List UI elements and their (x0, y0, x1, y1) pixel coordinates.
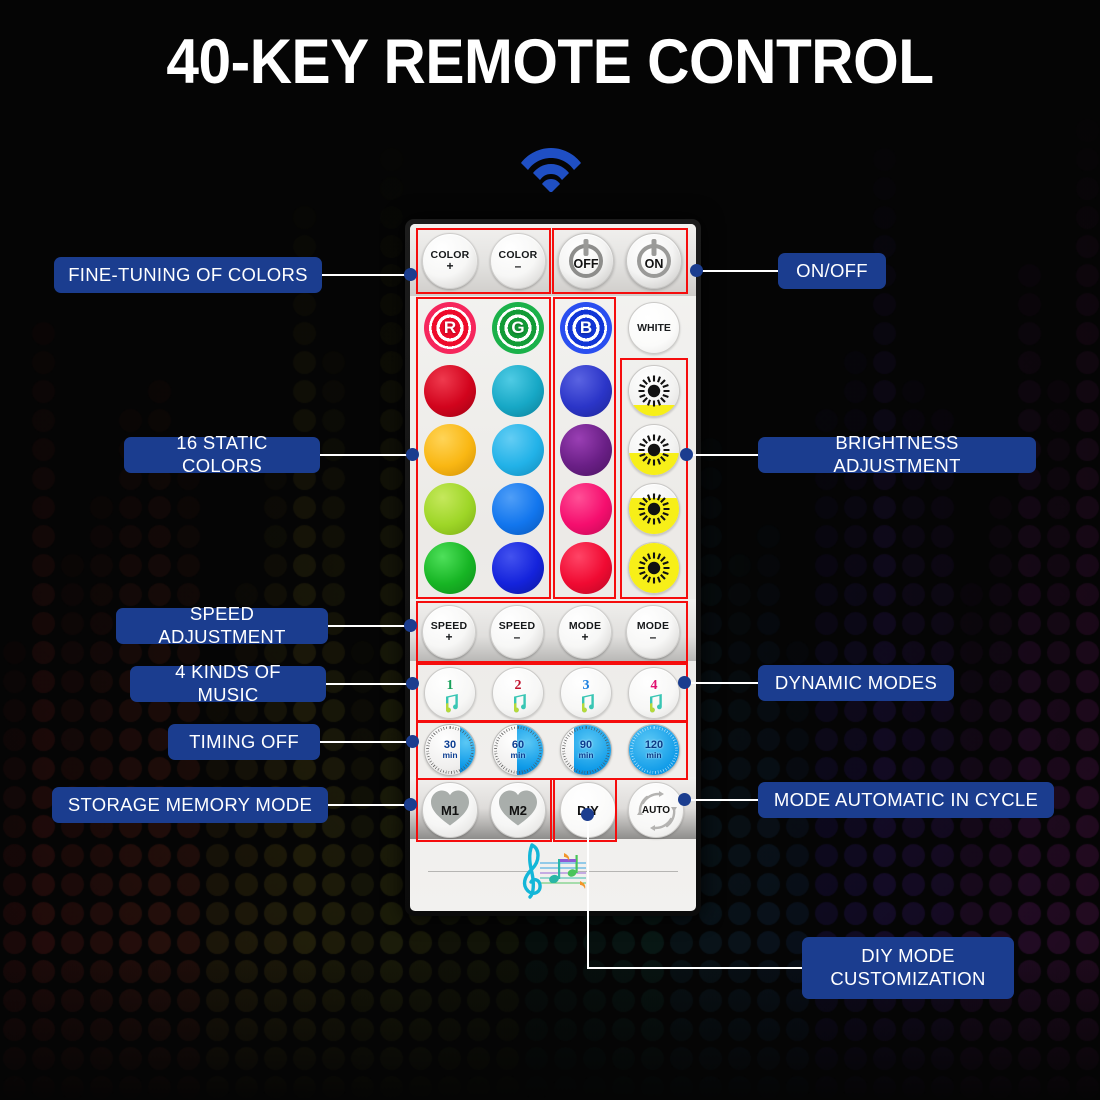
power-stem-icon (584, 239, 589, 256)
anchor-dynamic-modes (678, 676, 691, 689)
anchor-timing-off (406, 735, 419, 748)
callout-brightness[interactable]: BRIGHTNESS ADJUSTMENT (758, 437, 1036, 473)
leader-on-off (696, 270, 780, 272)
music-3-key[interactable]: 3 (560, 667, 612, 719)
auto-key-label: AUTO (642, 805, 670, 816)
timer-30min-label: 30 min (442, 740, 457, 759)
green-key[interactable]: G (492, 302, 544, 354)
timer-30min-key[interactable]: 30 min (424, 724, 476, 776)
speed-minus-key[interactable]: SPEED – (490, 605, 544, 659)
white-key-label: WHITE (637, 322, 671, 334)
power-on-key[interactable]: ON (626, 233, 682, 289)
anchor-auto-cycle (678, 793, 691, 806)
color-swatch-key[interactable] (492, 483, 544, 535)
memory-m1-label: M1 (441, 803, 459, 818)
speed-plus-key[interactable]: SPEED + (422, 605, 476, 659)
brightness-icon (637, 492, 671, 526)
color-plus-key[interactable]: COLOR + (422, 233, 478, 289)
timer-120min-key[interactable]: 120 min (628, 724, 680, 776)
leader-dynamic-modes (690, 682, 762, 684)
anchor-brightness (680, 448, 693, 461)
color-swatch-key[interactable] (424, 424, 476, 476)
brightness-key[interactable] (628, 365, 680, 417)
music-note-icon (507, 693, 529, 720)
color-swatch-key[interactable] (424, 365, 476, 417)
brightness-icon (637, 551, 671, 585)
leader-diy-horizontal (587, 967, 805, 969)
anchor-diy-mode (581, 808, 594, 821)
power-off-key[interactable]: OFF (558, 233, 614, 289)
callout-timing-off[interactable]: TIMING OFF (168, 724, 320, 760)
music-note-icon (439, 693, 461, 720)
mode-plus-sign: + (581, 631, 588, 643)
leader-static-colors (320, 454, 412, 456)
timer-120min-label: 120 min (645, 740, 663, 759)
page-title: 40-KEY REMOTE CONTROL (39, 26, 1062, 98)
music-1-number: 1 (447, 678, 454, 694)
wifi-icon (517, 140, 585, 192)
color-swatch-key[interactable] (492, 542, 544, 594)
power-off-label: OFF (574, 257, 599, 271)
music-note-icon (643, 693, 665, 720)
leader-brightness (690, 454, 762, 456)
music-2-number: 2 (515, 678, 522, 694)
brightness-icon (637, 374, 671, 408)
memory-m2-label: M2 (509, 803, 527, 818)
green-key-label: G (502, 312, 533, 343)
mode-minus-sign: – (650, 631, 657, 643)
callout-fine-tuning[interactable]: FINE-TUNING OF COLORS (54, 257, 322, 293)
blue-key[interactable]: B (560, 302, 612, 354)
color-swatch-key[interactable] (560, 542, 612, 594)
blue-key-label: B (570, 312, 601, 343)
color-plus-sign: + (446, 260, 453, 272)
timer-unit: min (510, 751, 525, 759)
timer-unit: min (645, 751, 663, 759)
brightness-key[interactable] (628, 424, 680, 476)
music-3-number: 3 (583, 678, 590, 694)
timer-unit: min (578, 751, 593, 759)
mode-minus-key[interactable]: MODE – (626, 605, 680, 659)
speed-plus-sign: + (445, 631, 452, 643)
anchor-speed-adjustment (404, 619, 417, 632)
red-key[interactable]: R (424, 302, 476, 354)
remote-footer (410, 827, 696, 911)
music-staff-logo (510, 835, 596, 910)
brightness-key[interactable] (628, 542, 680, 594)
anchor-on-off (690, 264, 703, 277)
timer-90min-key[interactable]: 90 min (560, 724, 612, 776)
music-2-key[interactable]: 2 (492, 667, 544, 719)
white-key[interactable]: WHITE (628, 302, 680, 354)
callout-on-off[interactable]: ON/OFF (778, 253, 886, 289)
color-swatch-key[interactable] (560, 365, 612, 417)
power-stem-icon (652, 239, 657, 256)
callout-music-kinds[interactable]: 4 KINDS OF MUSIC (130, 666, 326, 702)
color-swatch-key[interactable] (424, 483, 476, 535)
callout-dynamic-modes[interactable]: DYNAMIC MODES (758, 665, 954, 701)
anchor-fine-tuning (404, 268, 417, 281)
timer-60min-label: 60 min (510, 740, 525, 759)
color-swatch-key[interactable] (560, 424, 612, 476)
infographic-canvas: 40-KEY REMOTE CONTROL COLOR + COLOR – (0, 0, 1100, 1100)
music-4-key[interactable]: 4 (628, 667, 680, 719)
timer-90min-label: 90 min (578, 740, 593, 759)
timer-unit: min (442, 751, 457, 759)
leader-speed-adjustment (328, 625, 412, 627)
anchor-music-kinds (406, 677, 419, 690)
music-1-key[interactable]: 1 (424, 667, 476, 719)
callout-static-colors[interactable]: 16 STATIC COLORS (124, 437, 320, 473)
leader-fine-tuning (322, 274, 410, 276)
callout-speed-adjustment[interactable]: SPEED ADJUSTMENT (116, 608, 328, 644)
color-swatch-key[interactable] (492, 424, 544, 476)
callout-auto-cycle[interactable]: MODE AUTOMATIC IN CYCLE (758, 782, 1054, 818)
leader-diy-vertical (587, 814, 589, 968)
color-swatch-key[interactable] (560, 483, 612, 535)
speed-minus-sign: – (514, 631, 521, 643)
leader-timing-off (320, 741, 414, 743)
brightness-icon (637, 433, 671, 467)
power-on-label: ON (645, 257, 664, 271)
color-minus-sign: – (515, 260, 522, 272)
music-note-icon (575, 693, 597, 720)
timer-60min-key[interactable]: 60 min (492, 724, 544, 776)
leader-music-kinds (326, 683, 414, 685)
leader-storage-memory (328, 804, 412, 806)
music-4-number: 4 (651, 678, 658, 694)
callout-diy-mode[interactable]: DIY MODE CUSTOMIZATION (802, 937, 1014, 999)
brightness-key[interactable] (628, 483, 680, 535)
leader-auto-cycle (690, 799, 762, 801)
remote-faceplate: COLOR + COLOR – OFF ON R G (410, 224, 696, 911)
anchor-storage-memory (404, 798, 417, 811)
red-key-label: R (434, 312, 465, 343)
anchor-static-colors (406, 448, 419, 461)
color-swatch-key[interactable] (492, 365, 544, 417)
color-minus-key[interactable]: COLOR – (490, 233, 546, 289)
color-swatch-key[interactable] (424, 542, 476, 594)
callout-storage-memory[interactable]: STORAGE MEMORY MODE (52, 787, 328, 823)
remote-control-device: COLOR + COLOR – OFF ON R G (405, 219, 701, 916)
mode-plus-key[interactable]: MODE + (558, 605, 612, 659)
